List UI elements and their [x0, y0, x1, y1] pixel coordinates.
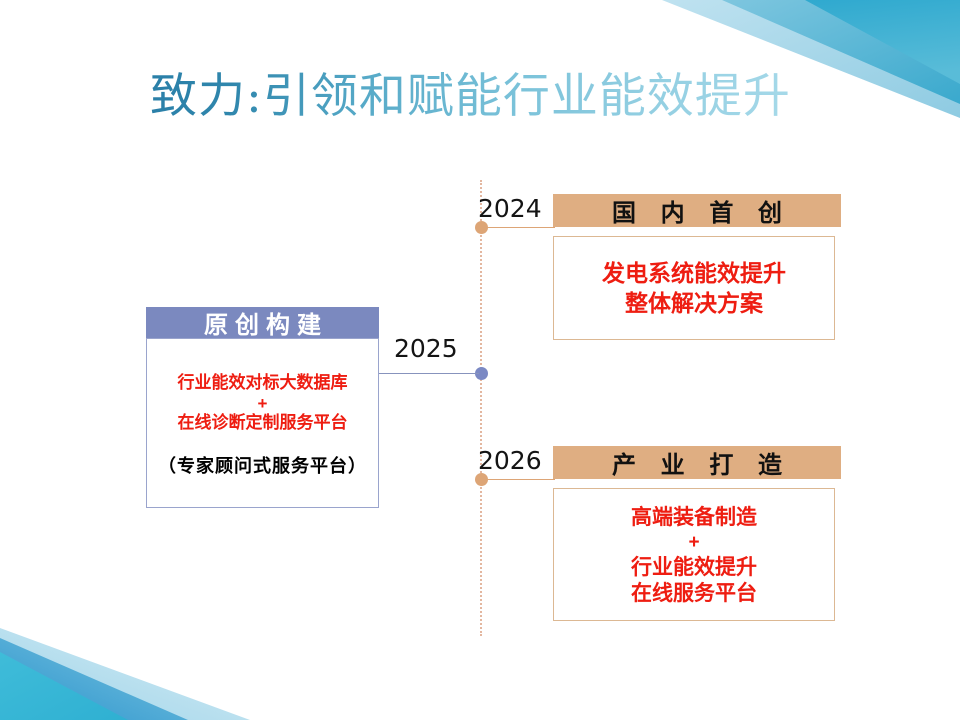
card-original-header: 原创构建	[146, 307, 379, 338]
card-domestic-first-body: 发电系统能效提升 整体解决方案	[553, 236, 835, 340]
card-domestic-first-header: 国 内 首 创	[553, 194, 841, 227]
timeline-year-2026: 2026	[478, 446, 542, 475]
timeline-connector-2024	[481, 227, 555, 228]
card-domestic-first-line1: 发电系统能效提升	[602, 258, 786, 288]
card-industry-build[interactable]: 产 业 打 造 高端装备制造 + 行业能效提升 在线服务平台	[553, 446, 841, 621]
card-original-note: （专家顾问式服务平台）	[158, 452, 367, 478]
card-industry-build-plus: +	[688, 533, 699, 553]
timeline-year-2024: 2024	[478, 194, 542, 223]
decorative-corner-bottom-left	[0, 590, 420, 720]
timeline-connector-2026	[481, 479, 555, 480]
slide-canvas: 致力:引领和赋能行业能效提升 2024 2025 2026 原创构建 行业能效对…	[0, 0, 960, 720]
card-industry-build-line3: 在线服务平台	[631, 581, 757, 607]
timeline-connector-2025	[379, 373, 479, 374]
card-domestic-first-line2: 整体解决方案	[625, 288, 763, 318]
card-original-body: 行业能效对标大数据库 + 在线诊断定制服务平台 （专家顾问式服务平台）	[146, 338, 379, 508]
card-industry-build-line1: 高端装备制造	[631, 505, 757, 531]
card-original-line2: 在线诊断定制服务平台	[178, 412, 348, 434]
card-domestic-first[interactable]: 国 内 首 创 发电系统能效提升 整体解决方案	[553, 194, 841, 340]
card-original-line1: 行业能效对标大数据库	[178, 372, 348, 394]
card-original-construction[interactable]: 原创构建 行业能效对标大数据库 + 在线诊断定制服务平台 （专家顾问式服务平台）	[146, 307, 379, 508]
card-original-plus: +	[258, 395, 268, 413]
card-industry-build-header: 产 业 打 造	[553, 446, 841, 479]
timeline-axis	[480, 180, 482, 636]
timeline-year-2025: 2025	[394, 334, 458, 363]
page-title: 致力:引领和赋能行业能效提升	[150, 68, 791, 127]
card-industry-build-body: 高端装备制造 + 行业能效提升 在线服务平台	[553, 488, 835, 621]
card-industry-build-line2: 行业能效提升	[631, 555, 757, 581]
